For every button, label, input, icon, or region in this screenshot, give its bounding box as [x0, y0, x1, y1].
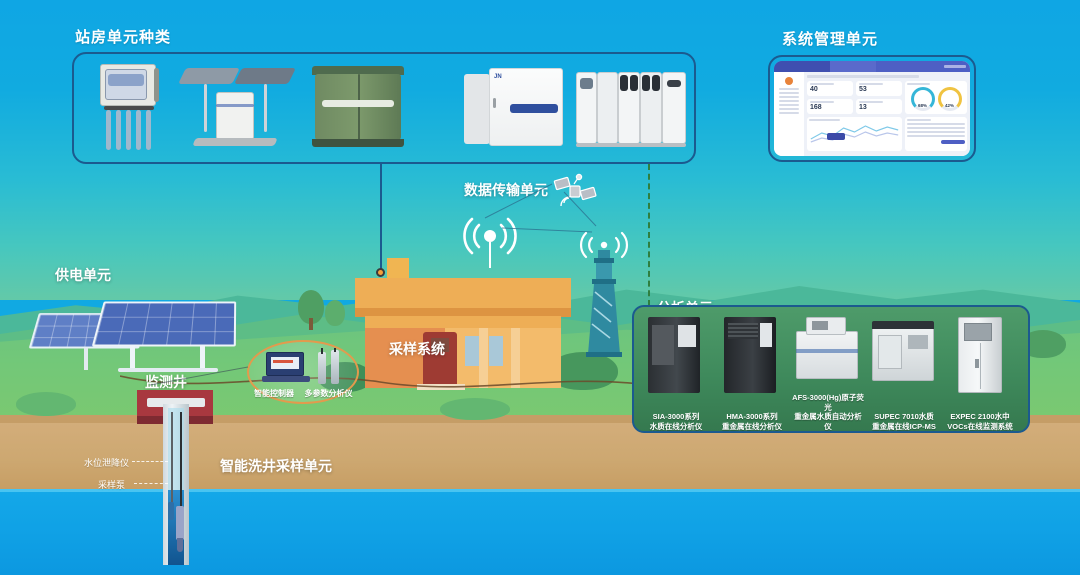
pump-cable	[180, 412, 182, 508]
afs-3000-line2: 重金属水质自动分析仪	[794, 412, 862, 431]
solar-panel-left	[178, 68, 240, 84]
afs-3000-window	[812, 321, 828, 330]
alarm-list-card	[905, 117, 967, 151]
sidebar-skeleton-7[interactable]	[779, 112, 799, 114]
hma-3000-caption: HMA-3000系列 重金属在线分析仪	[716, 412, 788, 431]
dashboard-filter-bar[interactable]	[807, 75, 919, 78]
gauge-1: 68%	[911, 87, 935, 111]
smart-well-sampling-label: 智能洗井采样单元	[220, 456, 332, 476]
tree-left-2	[325, 300, 345, 326]
solar-cabinet-stripe	[216, 104, 254, 107]
expec-2100-caption: EXPEC 2100水中 VOCs在线监测系统	[944, 412, 1016, 431]
sia-3000-line1: SIA-3000系列	[653, 412, 700, 421]
analysis-unit-panel: SIA-3000系列 水质在线分析仪 HMA-3000系列 重金属在线分析仪 A…	[632, 305, 1030, 433]
expec-2100-handle	[975, 359, 979, 368]
station-unit-title: 站房单元种类	[75, 26, 171, 47]
white-cabin-badge	[510, 104, 558, 113]
hma-3000-panel	[760, 323, 772, 347]
gauge-1-value: 68%	[918, 103, 927, 108]
hma-3000-grill	[728, 323, 758, 339]
hma-3000-line1: HMA-3000系列	[726, 412, 777, 421]
rack-bottom-rail	[576, 143, 686, 147]
water-level-meter-label: 水位泄降仪	[84, 456, 129, 469]
probe-5	[146, 110, 151, 150]
afs-3000-stripe	[796, 349, 858, 353]
controller-screen-graph	[108, 74, 144, 86]
sidebar-skeleton-3[interactable]	[779, 96, 799, 98]
afs-3000-caption: AFS-3000(Hg)原子荧光 重金属水质自动分析仪	[792, 393, 864, 431]
house-chimney	[387, 258, 409, 280]
analyzer-item-sia-3000: SIA-3000系列 水质在线分析仪	[640, 315, 712, 433]
analyzer-item-supec-7010: SUPEC 7010水质 重金属在线ICP-MS	[868, 315, 940, 433]
sampling-system-label: 采样系统	[389, 339, 445, 359]
alarm-more-button[interactable]	[941, 140, 965, 144]
analyzer-item-afs-3000: AFS-3000(Hg)原子荧光 重金属水质自动分析仪	[792, 315, 864, 433]
dashboard-titlebar	[774, 61, 970, 72]
green-cabinet-label-strip	[322, 100, 394, 107]
dashboard-main: 40 53 168	[804, 72, 970, 156]
gauge-card-title	[907, 83, 930, 85]
alarm-list-title	[907, 119, 931, 121]
expec-2100-door-line	[980, 343, 981, 389]
sampling-pump-label: 采样泵	[98, 478, 125, 491]
green-cabinet-door-split	[358, 74, 360, 140]
probe-2	[116, 110, 121, 150]
bush-left-low	[16, 392, 76, 416]
house-awning	[365, 316, 561, 328]
green-cabinet-base	[312, 139, 404, 147]
dashboard-avatar	[785, 77, 793, 85]
dashboard-app-tab[interactable]	[774, 61, 830, 72]
alarm-row-4[interactable]	[907, 135, 965, 137]
solar-post-right	[264, 84, 267, 132]
expec-2100-line2: VOCs在线监测系统	[947, 422, 1012, 431]
communication-tower	[578, 222, 630, 362]
hma-3000-line2: 重金属在线分析仪	[722, 422, 782, 431]
sidebar-skeleton-5[interactable]	[779, 104, 799, 106]
alarm-row-1[interactable]	[907, 123, 965, 125]
sia-3000-caption: SIA-3000系列 水质在线分析仪	[640, 412, 712, 431]
rack-cab-4-top	[642, 75, 650, 91]
dashboard-body: 40 53 168	[774, 72, 970, 156]
level-sensor-probe	[168, 502, 174, 520]
sampling-pump-leader	[134, 483, 168, 484]
probe-1	[106, 110, 111, 150]
water-level-meter-leader	[132, 461, 168, 462]
sampling-pump-tip	[177, 538, 183, 552]
solar-base	[192, 138, 277, 146]
rack-cab-5-slot	[667, 80, 681, 87]
dashboard-page-tab[interactable]	[830, 61, 876, 72]
stat-card-3: 168	[807, 99, 853, 114]
window-controls[interactable]	[944, 65, 966, 68]
supec-7010-line1: SUPEC 7010水质	[874, 412, 934, 421]
supec-7010-line2: 重金属在线ICP-MS	[872, 422, 936, 431]
solar-array-back-post	[84, 348, 88, 370]
sia-3000-panel	[678, 325, 696, 347]
sia-3000-line2: 水质在线分析仪	[650, 422, 703, 431]
gauge-card: 68% 42%	[905, 81, 967, 114]
stat-card-2-value: 53	[859, 85, 899, 94]
supec-7010-top	[872, 321, 934, 329]
stat-card-3-value: 168	[810, 103, 850, 112]
station-unit-wall-controller	[96, 62, 164, 158]
sidebar-skeleton-6[interactable]	[779, 108, 799, 110]
gauge-2-value: 42%	[945, 103, 954, 108]
sia-3000-door	[652, 325, 674, 365]
alarm-row-2[interactable]	[907, 127, 965, 129]
station-unit-solar-cabinet	[182, 64, 294, 156]
solar-cabinet-body	[216, 92, 254, 140]
rack-cab-4-top2	[652, 75, 660, 91]
rack-cab-2	[597, 72, 618, 144]
system-management-panel: 40 53 168	[768, 55, 976, 162]
stat-card-4-value: 13	[859, 103, 899, 112]
callout-connectors	[150, 345, 380, 405]
white-cabin-side	[464, 74, 490, 144]
afs-3000-body	[796, 331, 858, 379]
sidebar-skeleton-2[interactable]	[779, 92, 799, 94]
connector-system-to-analysis	[648, 164, 650, 306]
sidebar-skeleton-4[interactable]	[779, 100, 799, 102]
station-unit-panel-inner: JN	[74, 54, 694, 162]
stat-card-1-value: 40	[810, 85, 850, 94]
sampling-pump-body	[176, 506, 184, 540]
power-unit-label: 供电单元	[55, 265, 111, 285]
sidebar-skeleton-1[interactable]	[779, 88, 799, 90]
solar-panel-right	[234, 68, 296, 84]
solar-post-left	[204, 84, 207, 132]
station-unit-green-cabinet	[312, 66, 404, 152]
supec-7010-panel	[908, 335, 928, 349]
chart-tooltip	[827, 133, 845, 140]
dashboard-sidebar	[774, 72, 804, 156]
diagram-canvas: 站房单元种类	[0, 0, 1080, 575]
level-sensor-cable	[171, 412, 173, 504]
station-unit-analyzer-rack	[576, 68, 688, 150]
trend-chart-card	[807, 117, 902, 151]
tower-icon	[578, 222, 630, 362]
expec-2100-line1: EXPEC 2100水中	[950, 412, 1009, 421]
white-cabin-door-handle	[493, 98, 496, 108]
system-management-title: 系统管理单元	[782, 28, 878, 49]
gauge-2: 42%	[938, 87, 962, 111]
white-cabin-brand: JN	[494, 74, 502, 80]
probe-4	[136, 110, 141, 150]
afs-3000-line1: AFS-3000(Hg)原子荧光	[792, 393, 864, 412]
rack-cab-3-top	[620, 75, 628, 91]
trend-chart-svg	[809, 121, 900, 145]
station-unit-white-cabin: JN	[464, 68, 564, 150]
solar-array-front	[92, 301, 236, 346]
rack-cab-1-screen	[580, 78, 593, 89]
rack-cab-3-top2	[630, 75, 638, 91]
supec-7010-door	[878, 335, 902, 369]
expec-2100-screen	[964, 323, 992, 341]
alarm-row-3[interactable]	[907, 131, 965, 133]
stat-card-2: 53	[856, 81, 902, 96]
stat-card-4: 13	[856, 99, 902, 114]
controller-hinge	[154, 68, 159, 102]
tree-trunk-1	[309, 318, 313, 330]
dashboard-screenshot: 40 53 168	[774, 61, 970, 156]
connector-station-to-house	[380, 164, 382, 272]
station-unit-panel: JN	[72, 52, 696, 164]
stat-card-1: 40	[807, 81, 853, 96]
analyzer-item-hma-3000: HMA-3000系列 重金属在线分析仪	[716, 315, 788, 433]
supec-7010-caption: SUPEC 7010水质 重金属在线ICP-MS	[868, 412, 940, 431]
analyzer-item-expec-2100: EXPEC 2100水中 VOCs在线监测系统	[944, 315, 1016, 433]
probe-3	[126, 110, 131, 150]
